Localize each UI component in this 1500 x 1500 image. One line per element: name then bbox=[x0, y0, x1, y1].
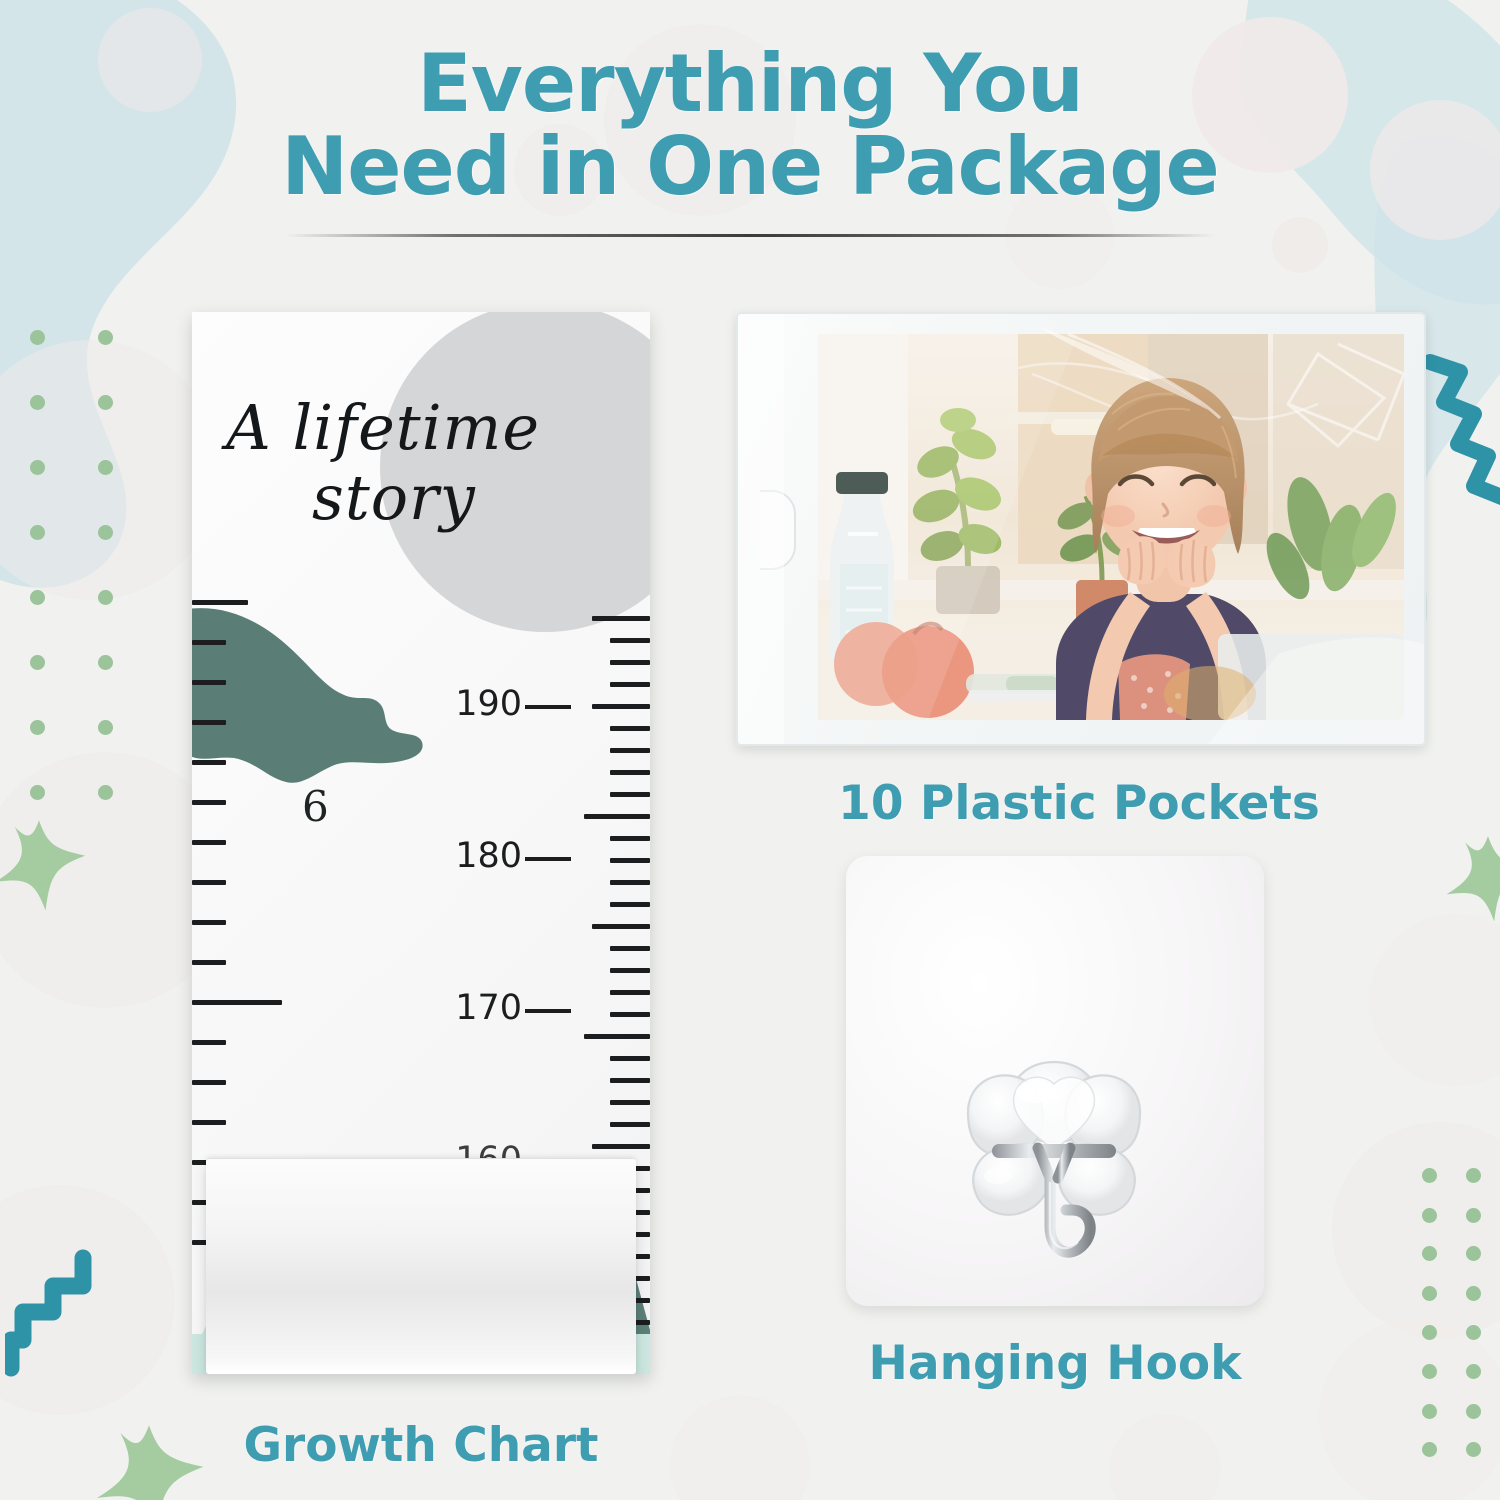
growth-chart-caption: Growth Chart bbox=[192, 1418, 650, 1473]
growth-chart-rolled-bottom bbox=[206, 1158, 636, 1374]
growth-chart-feature[interactable]: A lifetime story bbox=[192, 312, 650, 1473]
ruler-number-190: 190 bbox=[455, 684, 522, 724]
zigzag-top-right-icon bbox=[1418, 340, 1500, 520]
zigzag-bottom-left-icon bbox=[5, 1240, 115, 1400]
plastic-pockets-feature[interactable]: 10 Plastic Pockets bbox=[736, 312, 1422, 831]
page-title-line-2: Need in One Package bbox=[0, 125, 1500, 208]
script-line-2: story bbox=[226, 466, 626, 530]
plastic-pockets-caption: 10 Plastic Pockets bbox=[736, 776, 1422, 831]
growth-chart-card: A lifetime story bbox=[192, 312, 650, 1374]
star-right-icon bbox=[1436, 832, 1500, 936]
page-title-line-1: Everything You bbox=[0, 42, 1500, 125]
title-divider bbox=[285, 234, 1215, 237]
hanging-hook-feature[interactable]: Hanging Hook bbox=[846, 856, 1264, 1391]
header: Everything You Need in One Package bbox=[0, 42, 1500, 237]
adhesive-hook-icon bbox=[954, 1056, 1154, 1271]
script-line-1: A lifetime bbox=[226, 391, 540, 464]
sleeve-glare-overlay bbox=[738, 314, 1424, 744]
hanging-hook-card bbox=[846, 856, 1264, 1306]
ruler-number-170: 170 bbox=[455, 988, 522, 1028]
ruler-number-180: 180 bbox=[455, 836, 522, 876]
star-left-icon bbox=[0, 816, 94, 926]
infographic-canvas: Everything You Need in One Package A lif… bbox=[0, 0, 1500, 1500]
growth-chart-script-text: A lifetime story bbox=[226, 396, 626, 531]
plastic-sleeve bbox=[736, 312, 1426, 746]
hanging-hook-caption: Hanging Hook bbox=[846, 1336, 1264, 1391]
mountain-age-number: 6 bbox=[302, 782, 329, 831]
